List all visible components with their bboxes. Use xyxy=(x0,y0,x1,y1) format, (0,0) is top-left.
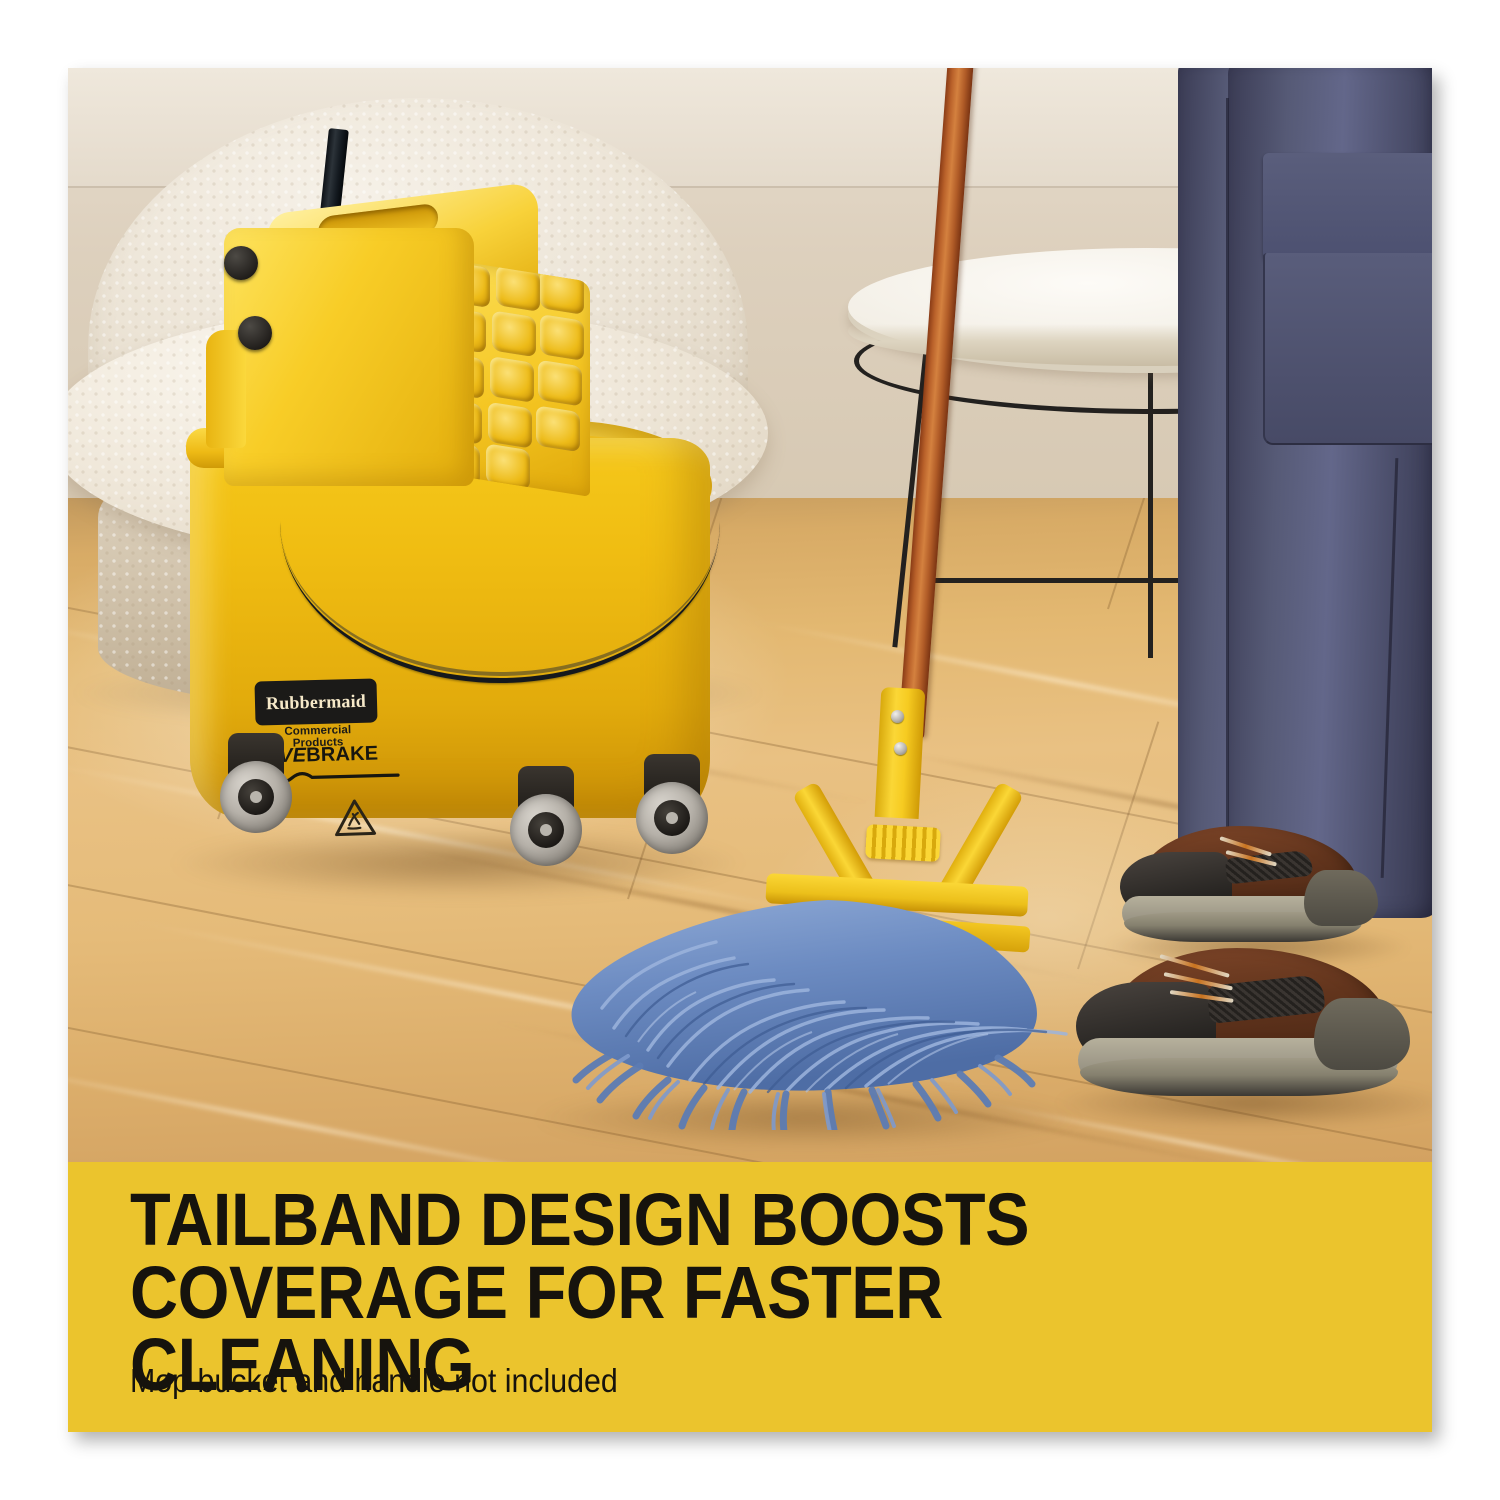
cargo-pocket-flap xyxy=(1263,153,1432,265)
worker-legs xyxy=(1058,68,1432,1058)
mop-clamp xyxy=(865,824,941,862)
product-image-card: Rubbermaid Commercial Products WAVEBRAKE xyxy=(68,68,1432,1432)
wringer-press-plate xyxy=(224,228,474,486)
screenshot-canvas: Rubbermaid Commercial Products WAVEBRAKE xyxy=(0,0,1500,1500)
brake-word: BRAKE xyxy=(306,743,379,767)
work-shoe-front xyxy=(1068,938,1428,1128)
wet-floor-warning-icon xyxy=(332,797,377,839)
feature-banner: TAILBAND DESIGN BOOSTS COVERAGE FOR FAST… xyxy=(68,1162,1432,1432)
wet-mop xyxy=(528,688,1088,1128)
product-photo: Rubbermaid Commercial Products WAVEBRAKE xyxy=(68,68,1432,1162)
brand-name: Rubbermaid xyxy=(266,690,367,714)
rubbermaid-logo-badge: Rubbermaid xyxy=(254,678,377,725)
banner-subline: Mop bucket and handle not included xyxy=(130,1362,618,1400)
blue-mop-head xyxy=(528,900,1088,1130)
